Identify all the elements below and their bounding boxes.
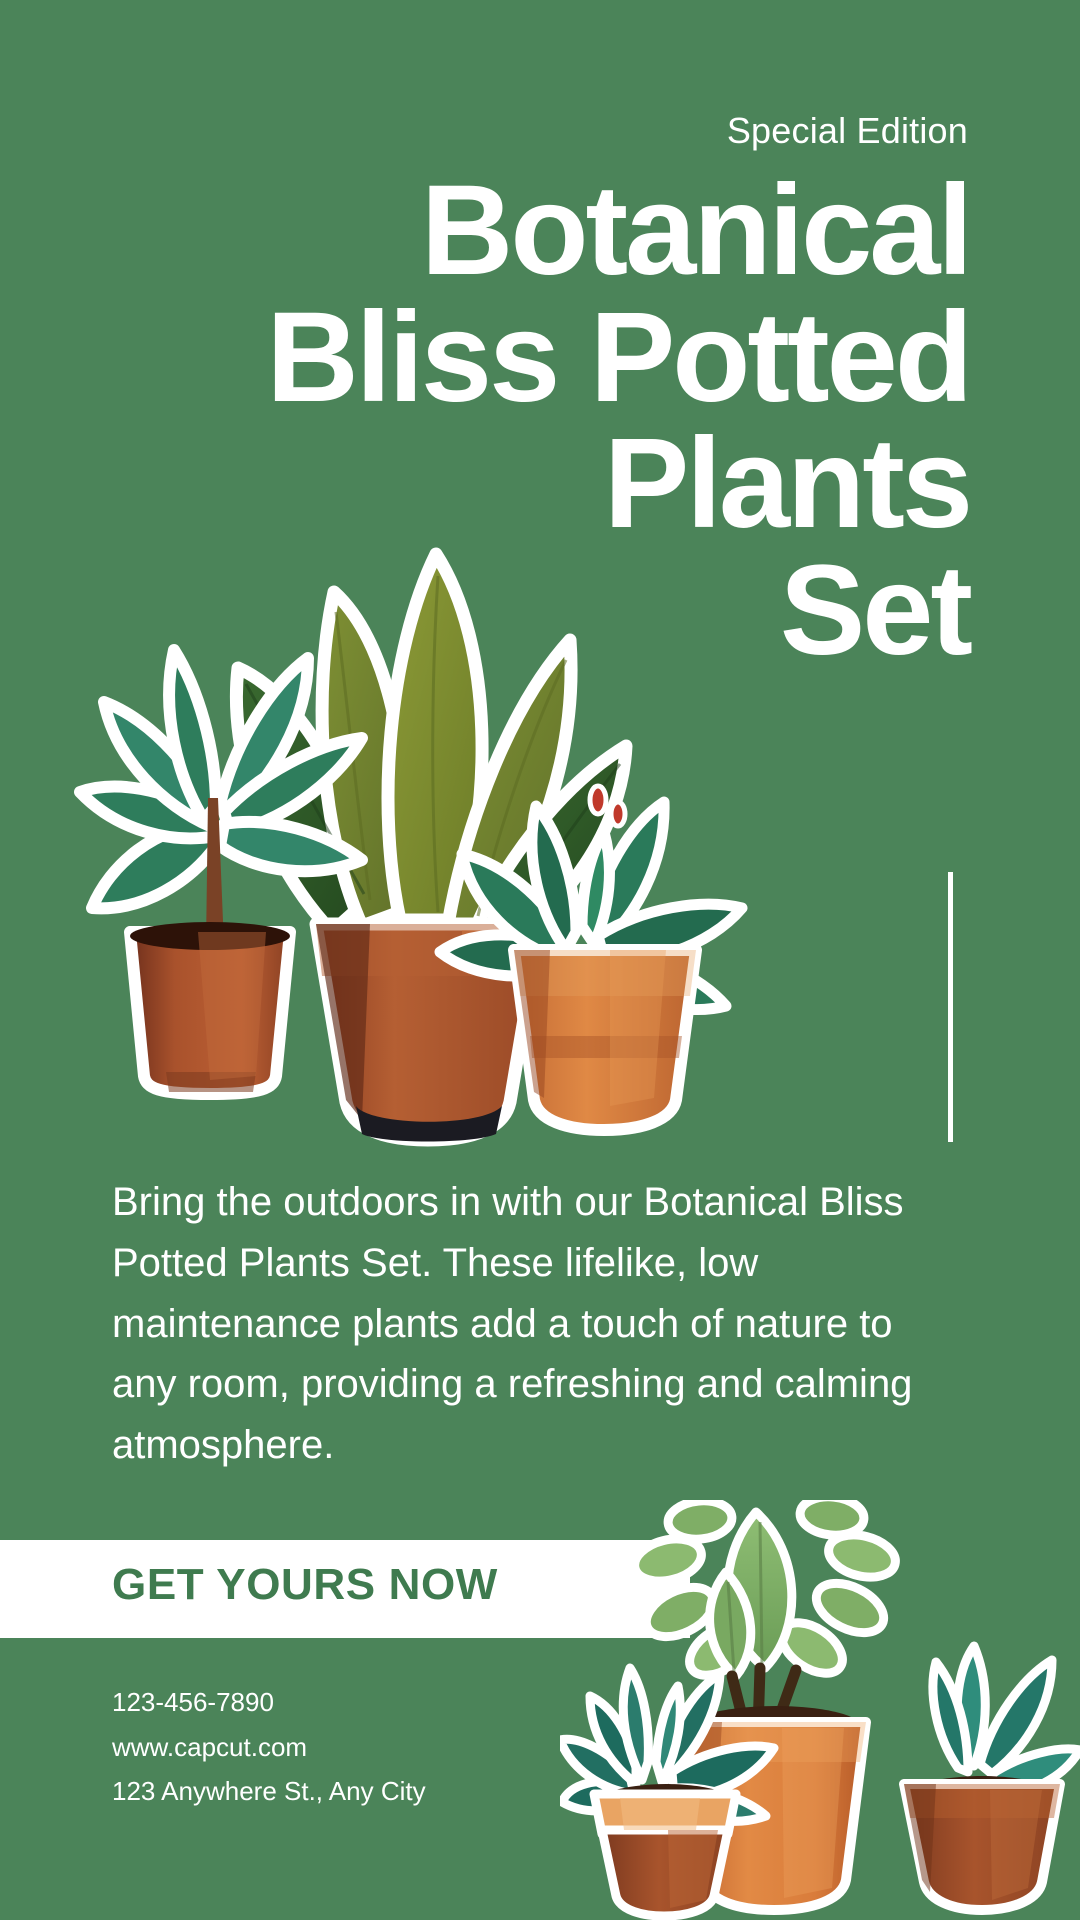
- contact-address: 123 Anywhere St., Any City: [112, 1769, 426, 1814]
- poster-canvas: Special Edition Botanical Bliss Potted P…: [0, 0, 1080, 1920]
- get-yours-now-button[interactable]: GET YOURS NOW: [112, 1560, 498, 1610]
- hero-plants-illustration: [70, 480, 770, 1150]
- eyebrow-special-edition: Special Edition: [727, 110, 968, 152]
- title-line-1: Botanical: [60, 168, 970, 295]
- title-line-2: Bliss Potted: [60, 295, 970, 422]
- contact-website[interactable]: www.capcut.com: [112, 1725, 426, 1770]
- contact-phone[interactable]: 123-456-7890: [112, 1680, 426, 1725]
- vertical-divider: [948, 872, 953, 1142]
- description-paragraph: Bring the outdoors in with our Botanical…: [112, 1172, 962, 1476]
- contact-block: 123-456-7890 www.capcut.com 123 Anywhere…: [112, 1680, 426, 1814]
- corner-plants-illustration: [560, 1500, 1080, 1920]
